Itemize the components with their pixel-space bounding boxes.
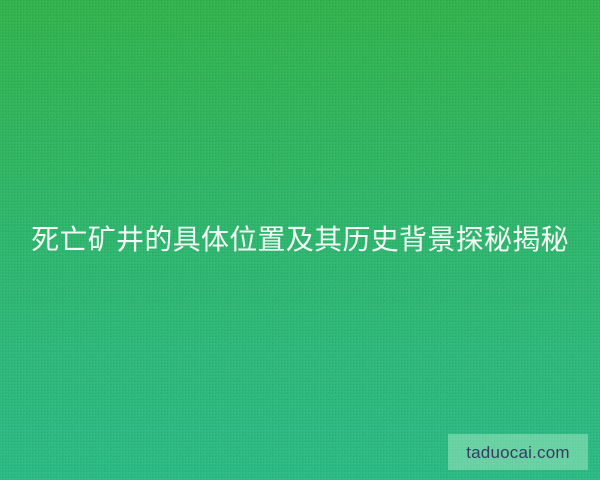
title-block: 死亡矿井的具体位置及其历史背景探秘揭秘 [0,0,600,480]
watermark-badge: taduocai.com [448,434,588,470]
page-title: 死亡矿井的具体位置及其历史背景探秘揭秘 [29,218,571,262]
title-card: 死亡矿井的具体位置及其历史背景探秘揭秘 taduocai.com [0,0,600,480]
watermark-label: taduocai.com [466,444,570,461]
